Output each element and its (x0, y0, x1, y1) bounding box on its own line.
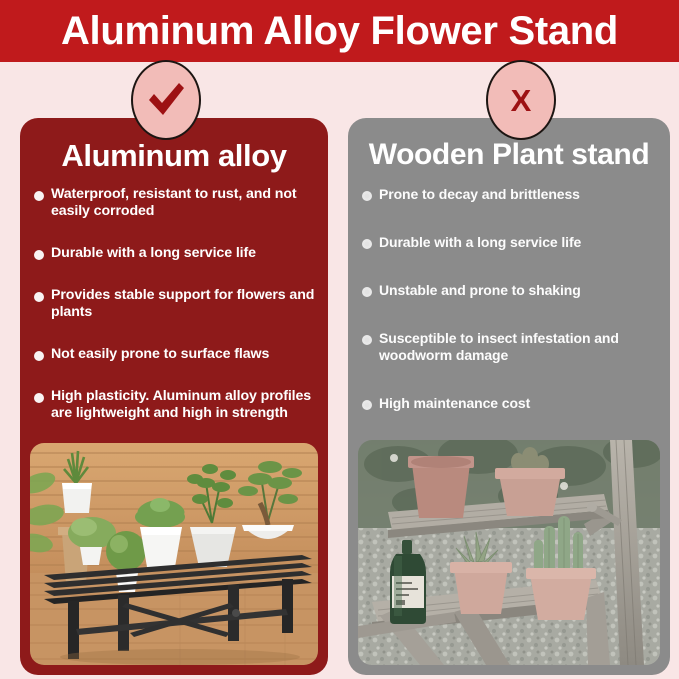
bullet-dot-icon (34, 191, 44, 201)
bullet-text: High maintenance cost (379, 395, 530, 412)
bullet-dot-icon (362, 287, 372, 297)
list-item: Not easily prone to surface flaws (34, 346, 318, 363)
list-item: High plasticity. Aluminum alloy profiles… (34, 388, 318, 422)
page-title: Aluminum Alloy Flower Stand (61, 9, 618, 54)
panel-aluminum-alloy: Aluminum alloy Waterproof, resistant to … (20, 118, 328, 675)
list-item: Unstable and prone to shaking (362, 282, 660, 299)
bullet-text: Durable with a long service life (51, 245, 256, 262)
bullet-dot-icon (34, 292, 44, 302)
panel-right-title: Wooden Plant stand (348, 138, 670, 172)
bullet-dot-icon (34, 351, 44, 361)
cross-badge: X (486, 60, 556, 140)
bullet-dot-icon (34, 393, 44, 403)
list-item: Prone to decay and brittleness (362, 186, 660, 203)
bullet-text: Not easily prone to surface flaws (51, 346, 269, 363)
bullet-dot-icon (362, 191, 372, 201)
panel-wooden-plant-stand: Wooden Plant stand Prone to decay and br… (348, 118, 670, 675)
wooden-stand-illustration (358, 440, 660, 665)
x-icon: X (511, 85, 532, 116)
list-item: Susceptible to insect infestation and wo… (362, 330, 660, 364)
wooden-plant-stand-photo (358, 440, 660, 665)
panel-right-bullet-list: Prone to decay and brittleness Durable w… (362, 186, 660, 443)
bullet-dot-icon (362, 400, 372, 410)
panel-left-bullet-list: Waterproof, resistant to rust, and not e… (34, 186, 318, 447)
bullet-text: Prone to decay and brittleness (379, 186, 580, 203)
bullet-text: High plasticity. Aluminum alloy profiles… (51, 388, 318, 422)
list-item: Waterproof, resistant to rust, and not e… (34, 186, 318, 220)
check-icon (146, 81, 186, 119)
bullet-dot-icon (362, 335, 372, 345)
bullet-dot-icon (362, 239, 372, 249)
aluminum-stand-illustration (30, 443, 318, 665)
bullet-text: Unstable and prone to shaking (379, 282, 581, 299)
bullet-dot-icon (34, 250, 44, 260)
list-item: Durable with a long service life (362, 234, 660, 251)
bullet-text: Waterproof, resistant to rust, and not e… (51, 186, 318, 220)
panel-left-title: Aluminum alloy (20, 138, 328, 174)
list-item: High maintenance cost (362, 395, 660, 412)
header-banner: Aluminum Alloy Flower Stand (0, 0, 679, 62)
aluminum-flower-stand-photo (30, 443, 318, 665)
list-item: Provides stable support for flowers and … (34, 287, 318, 321)
bullet-text: Durable with a long service life (379, 234, 581, 251)
bullet-text: Provides stable support for flowers and … (51, 287, 318, 321)
list-item: Durable with a long service life (34, 245, 318, 262)
bullet-text: Susceptible to insect infestation and wo… (379, 330, 660, 364)
check-badge (131, 60, 201, 140)
